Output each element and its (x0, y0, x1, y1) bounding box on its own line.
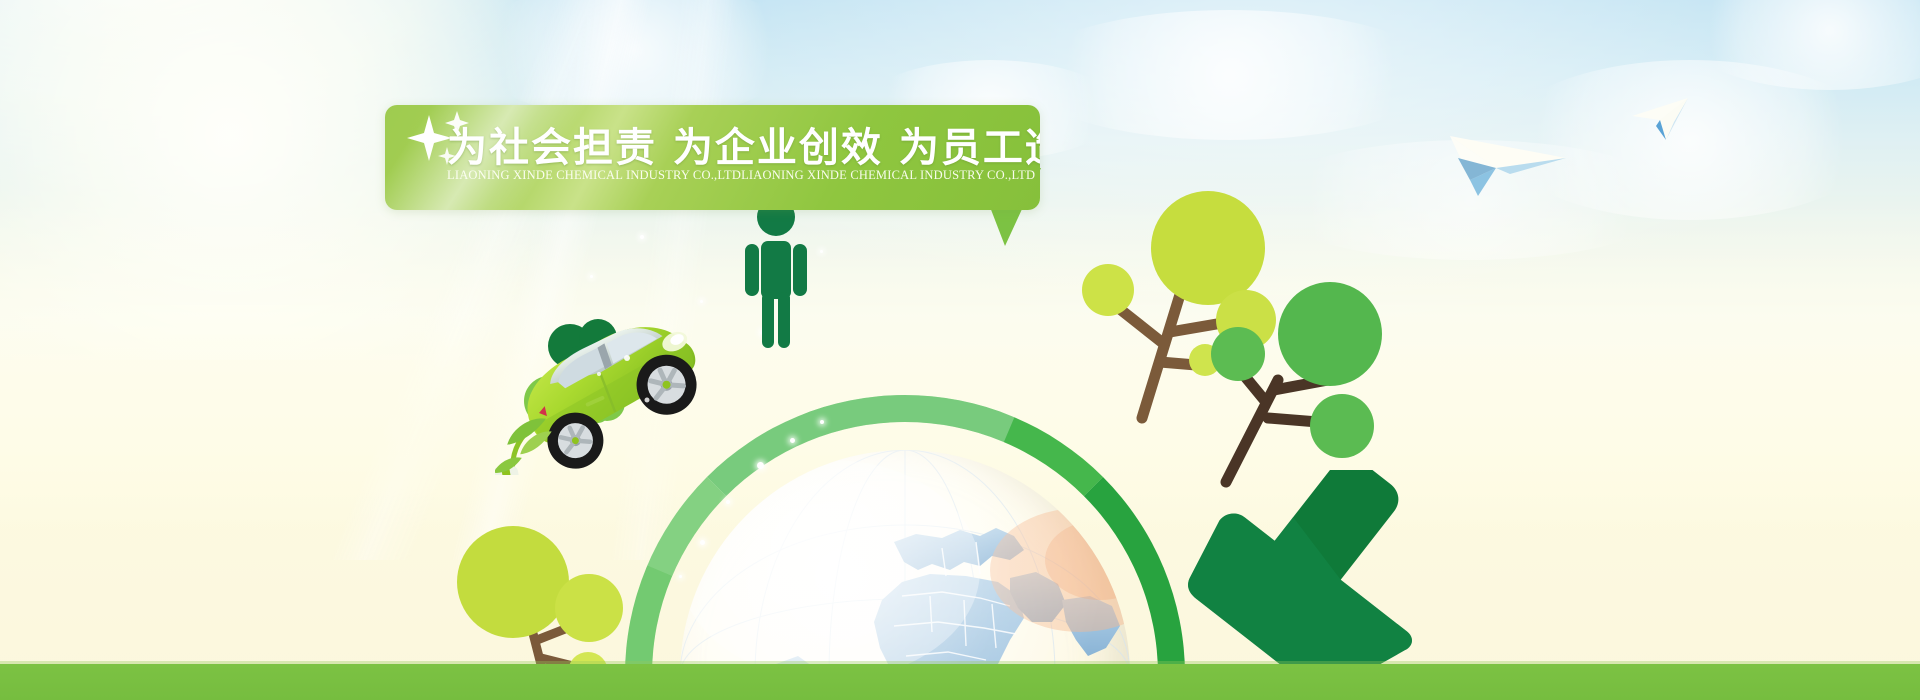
tree-green-right (1200, 250, 1430, 495)
banner-headline: 为社会担责 为企业创效 为员工造福 (447, 115, 1030, 173)
banner-stage: 为社会担责 为企业创效 为员工造福 LIAONING XINDE CHEMICA… (0, 0, 1920, 700)
slogan-banner[interactable]: 为社会担责 为企业创效 为员工造福 LIAONING XINDE CHEMICA… (385, 105, 1040, 210)
ground-strip (0, 664, 1920, 700)
electric-car (495, 300, 705, 460)
banner-subline: LIAONING XINDE CHEMICAL INDUSTRY CO.,LTD… (447, 168, 1032, 183)
paper-plane-large-icon (1448, 128, 1568, 198)
person-figure-icon (745, 198, 807, 348)
paper-plane-small-icon (1630, 96, 1692, 142)
